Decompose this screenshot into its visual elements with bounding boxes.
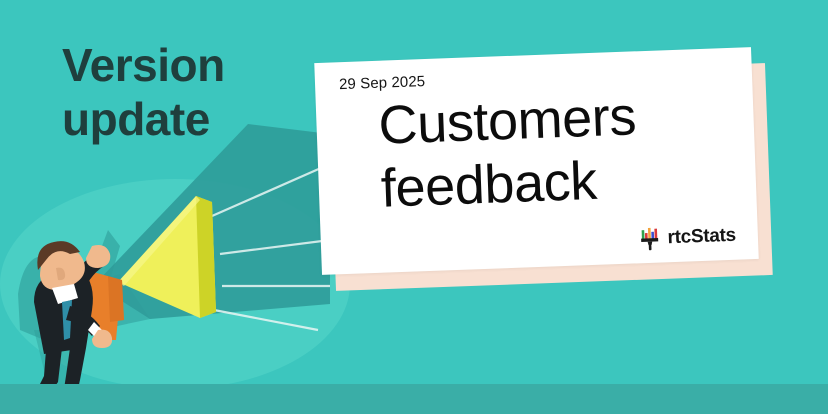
card-front-white: 29 Sep 2025 Customers feedback — [314, 47, 758, 275]
paintbrush-bars-icon — [639, 226, 662, 251]
page-title: Version update — [62, 38, 312, 147]
banner-canvas: Version update 29 Sep 2025 Customers fee… — [0, 0, 828, 414]
ground-band — [0, 384, 828, 414]
brand-logo[interactable]: rtcStats — [639, 224, 736, 252]
brand-name: rtcStats — [667, 225, 736, 249]
card-stack: 29 Sep 2025 Customers feedback — [318, 55, 763, 280]
illustration-megaphone-scene — [0, 134, 330, 414]
card-heading: Customers feedback — [377, 82, 741, 220]
card-date: 29 Sep 2025 — [339, 73, 426, 93]
megaphone-body-shade — [108, 276, 124, 322]
